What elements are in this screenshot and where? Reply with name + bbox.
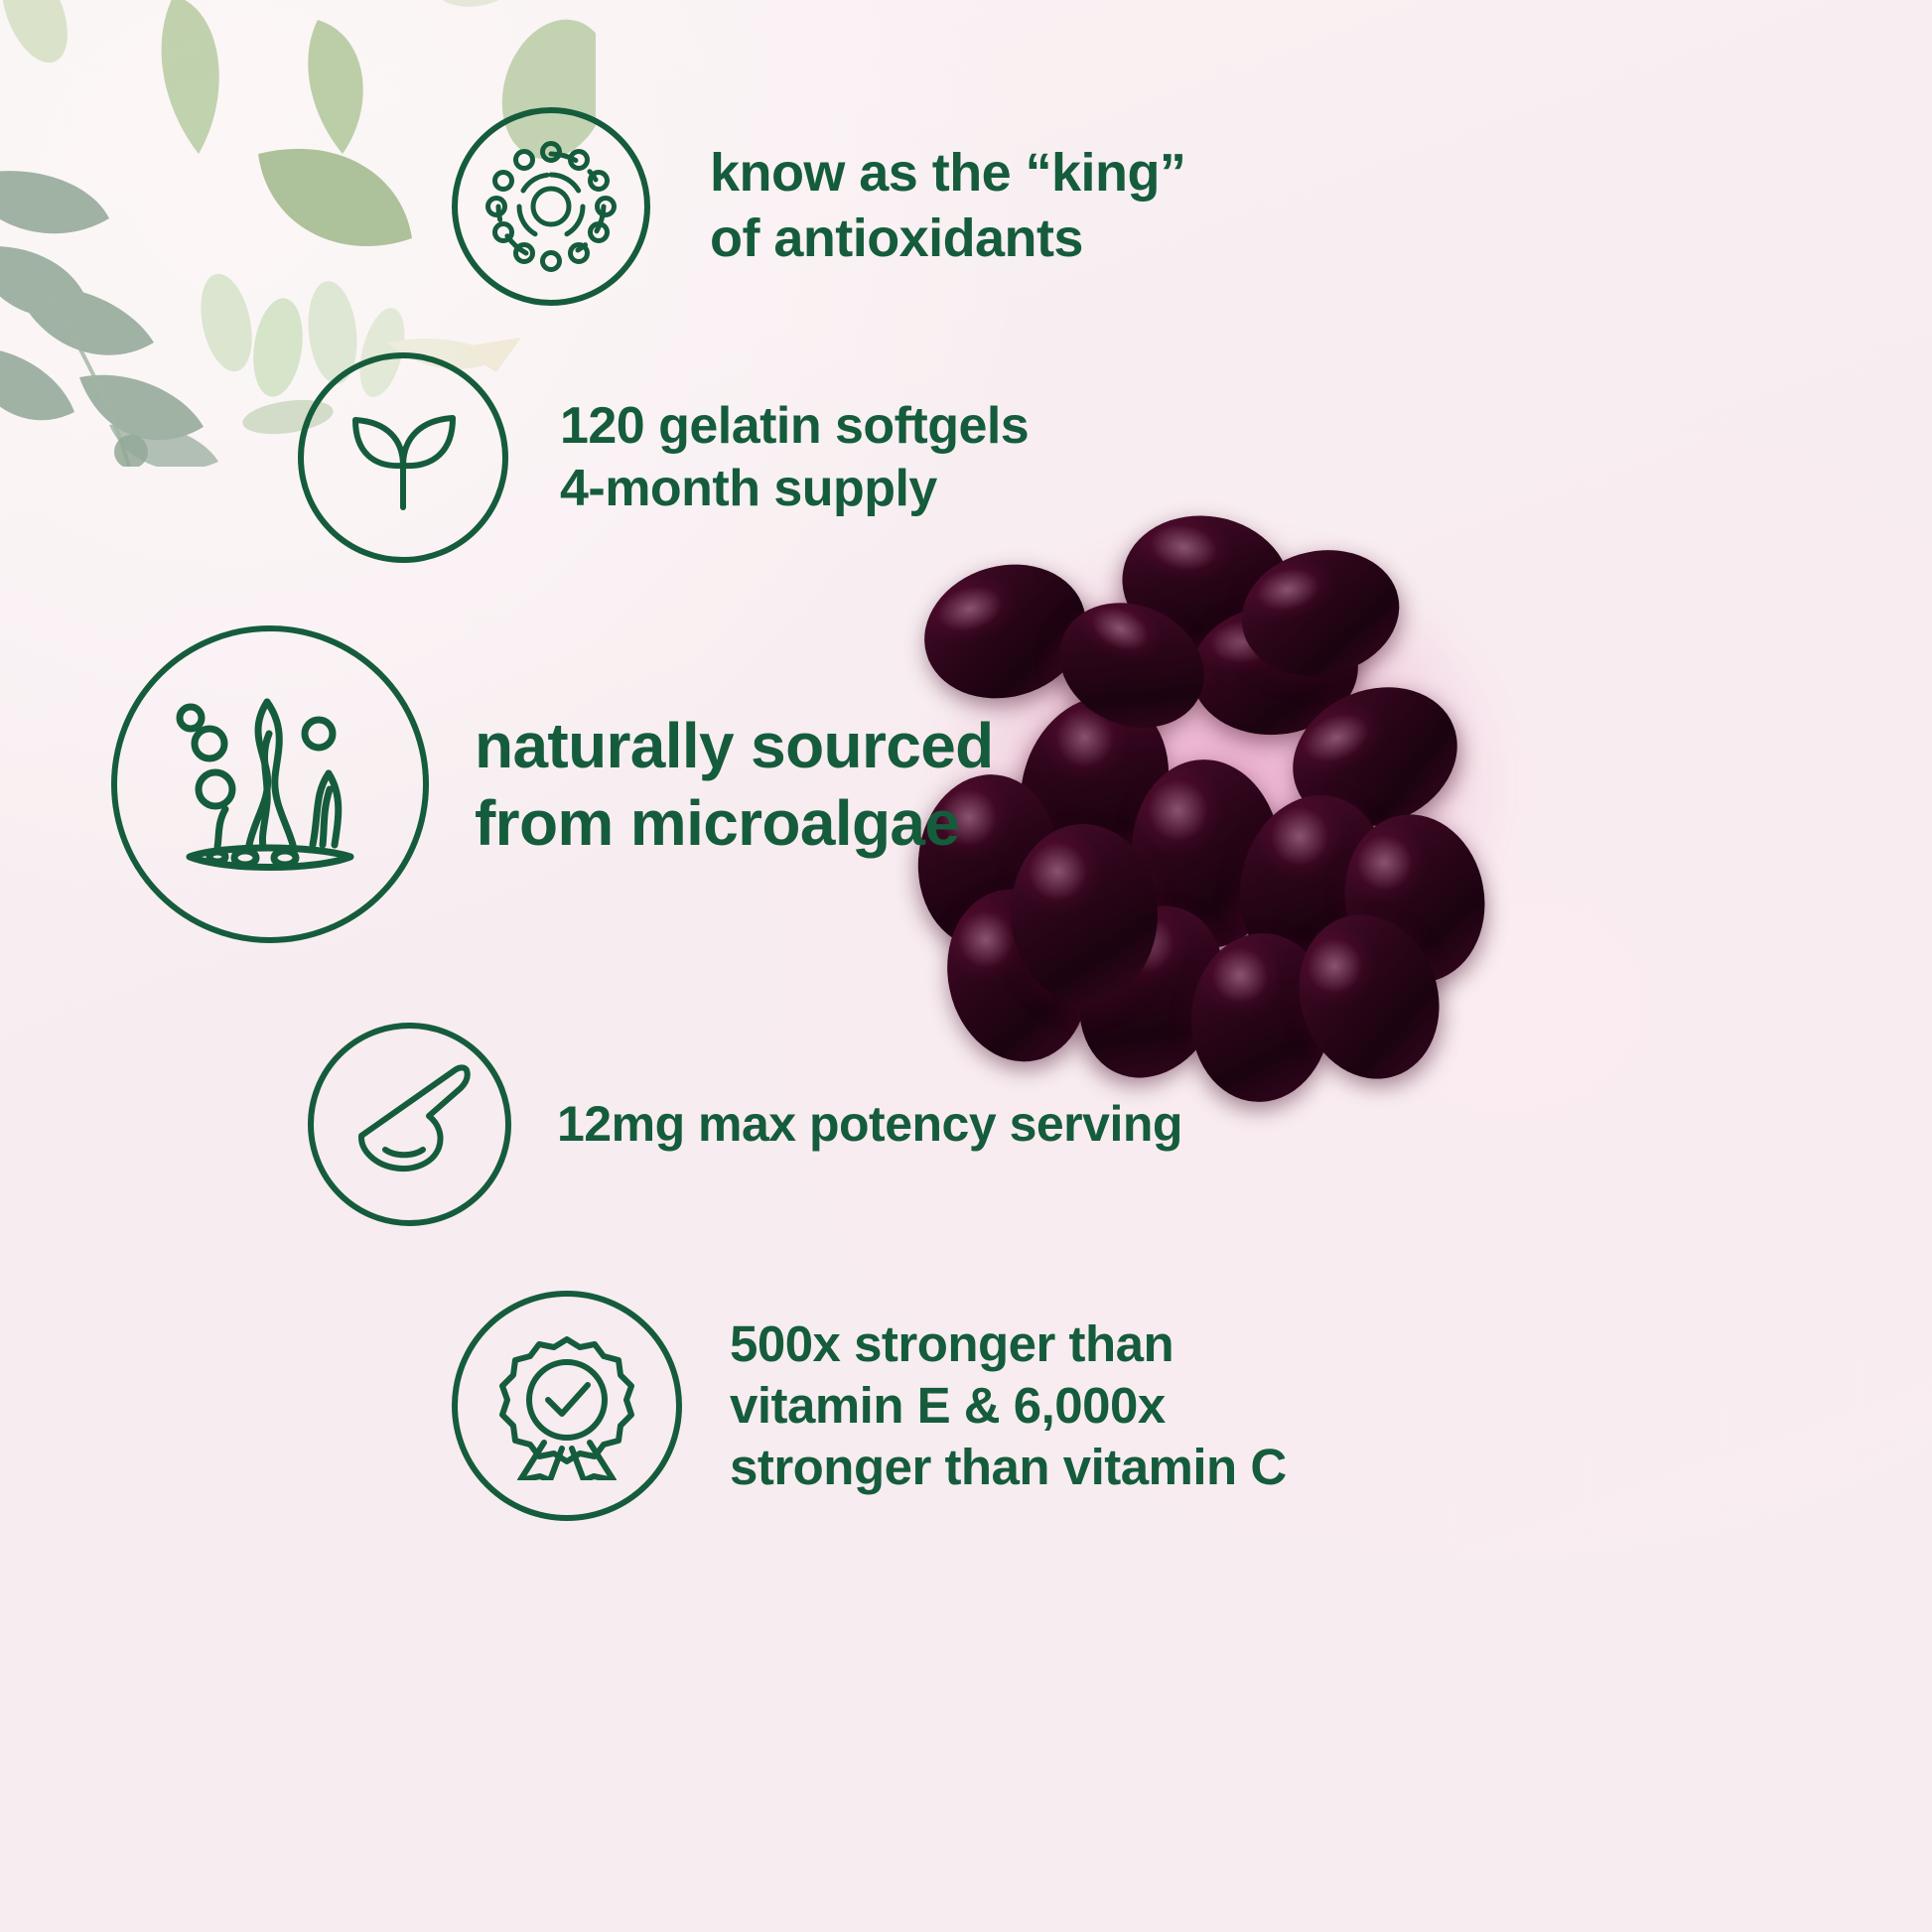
award-ribbon-check-icon [492,1331,641,1480]
feature-label-antioxidant: know as the “king” of antioxidants [710,141,1185,272]
microalgae-badge-circle [111,625,429,943]
feature-label-strength: 500x stronger than vitamin E & 6,000x st… [730,1313,1287,1499]
spoon-badge-circle [308,1023,511,1226]
sprout-badge-circle [298,352,508,563]
feature-row-potency: 12mg max potency serving [308,1023,1182,1226]
spoon-icon [344,1058,477,1191]
award-badge-circle [452,1291,682,1521]
feature-row-antioxidant: know as the “king” of antioxidants [452,107,1185,306]
antioxidant-molecule-icon [485,141,617,272]
antioxidant-badge-circle [452,107,650,306]
feature-row-strength: 500x stronger than vitamin E & 6,000x st… [452,1291,1287,1521]
sprout-leaf-icon [336,390,471,525]
feature-row-softgels: 120 gelatin softgels 4-month supply [298,352,1029,563]
feature-row-microalgae: naturally sourced from microalgae [111,625,994,943]
microalgae-seaweed-icon [164,678,376,891]
infographic-canvas: know as the “king” of antioxidants 120 g… [0,0,1932,1932]
feature-label-microalgae: naturally sourced from microalgae [475,707,994,862]
feature-label-softgels: 120 gelatin softgels 4-month supply [560,395,1029,521]
feature-label-potency: 12mg max potency serving [557,1094,1182,1155]
